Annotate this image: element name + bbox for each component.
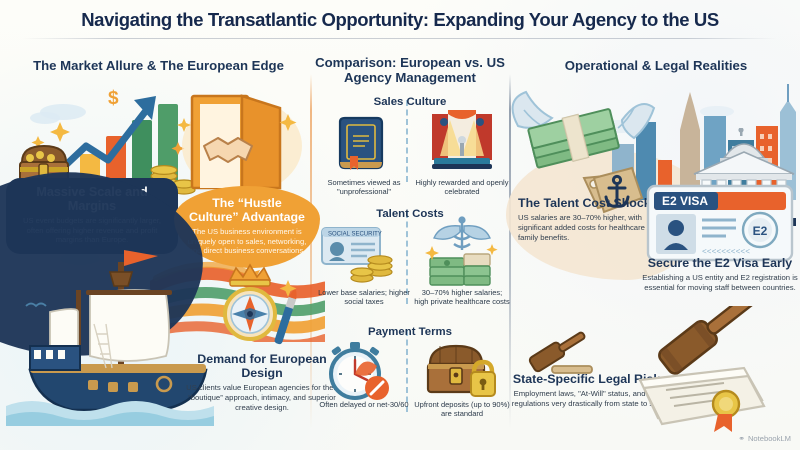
comparison-caption-talent-eu: Lower base salaries; higher social taxes [316,288,412,307]
comparison-caption-talent-us: 30–70% higher salaries; high private hea… [414,288,510,307]
watermark-label: NotebookLM [748,434,791,443]
svg-text:$: $ [108,88,119,109]
section-title-sales-culture: Sales Culture [312,96,508,108]
comparison-divider-sales [406,100,408,182]
column-heading-right: Operational & Legal Realities [512,58,800,73]
infographic-poster: Navigating the Transatlantic Opportunity… [0,0,800,450]
title-divider [22,38,778,39]
svg-text:SOCIAL SECURITY: SOCIAL SECURITY [328,232,382,238]
treasure-chest-padlock-icon [424,340,500,402]
card-body: Establishing a US entity and E2 registra… [640,273,800,293]
card-title: Secure the E2 Visa Early [640,256,800,270]
e2-visa-card-illustration: E2 VISA E2 <<<<<<<<<< [646,184,794,262]
caduceus-cash-stacks-icon [424,214,500,288]
notebooklm-logo-icon: ⚭ [738,434,745,443]
visa-card-label: E2 VISA [662,194,708,208]
comparison-caption-payment-eu: Often delayed or net-30/60 [316,400,412,409]
notebooklm-watermark: ⚭ NotebookLM [738,434,791,443]
column-heading-middle: Comparison: European vs. US Agency Manag… [312,55,508,85]
gavel-icon [522,326,594,374]
social-security-card-coins-icon: SOCIAL SECURITY [318,222,402,284]
card-secure-the-e2-visa-early: Secure the E2 Visa Early Establishing a … [640,256,800,293]
comparison-caption-payment-us: Upfront deposits (up to 90%) are standar… [414,400,510,419]
closed-book-icon [330,112,392,174]
column-heading-left: The Market Allure & The European Edge [6,58,311,73]
visa-seal-label: E2 [753,224,768,238]
comparison-caption-sales-eu: Sometimes viewed as "unprofessional" [316,178,412,197]
stage-spotlight-icon [428,110,496,172]
gavel-legal-document-illustration [626,306,798,432]
page-title: Navigating the Transatlantic Opportunity… [0,9,800,31]
section-title-payment-terms: Payment Terms [312,326,508,338]
card-title: Demand for European Design [186,352,338,380]
stopwatch-delay-icon [326,340,392,402]
comparison-caption-sales-us: Highly rewarded and openly celebrated [414,178,510,197]
